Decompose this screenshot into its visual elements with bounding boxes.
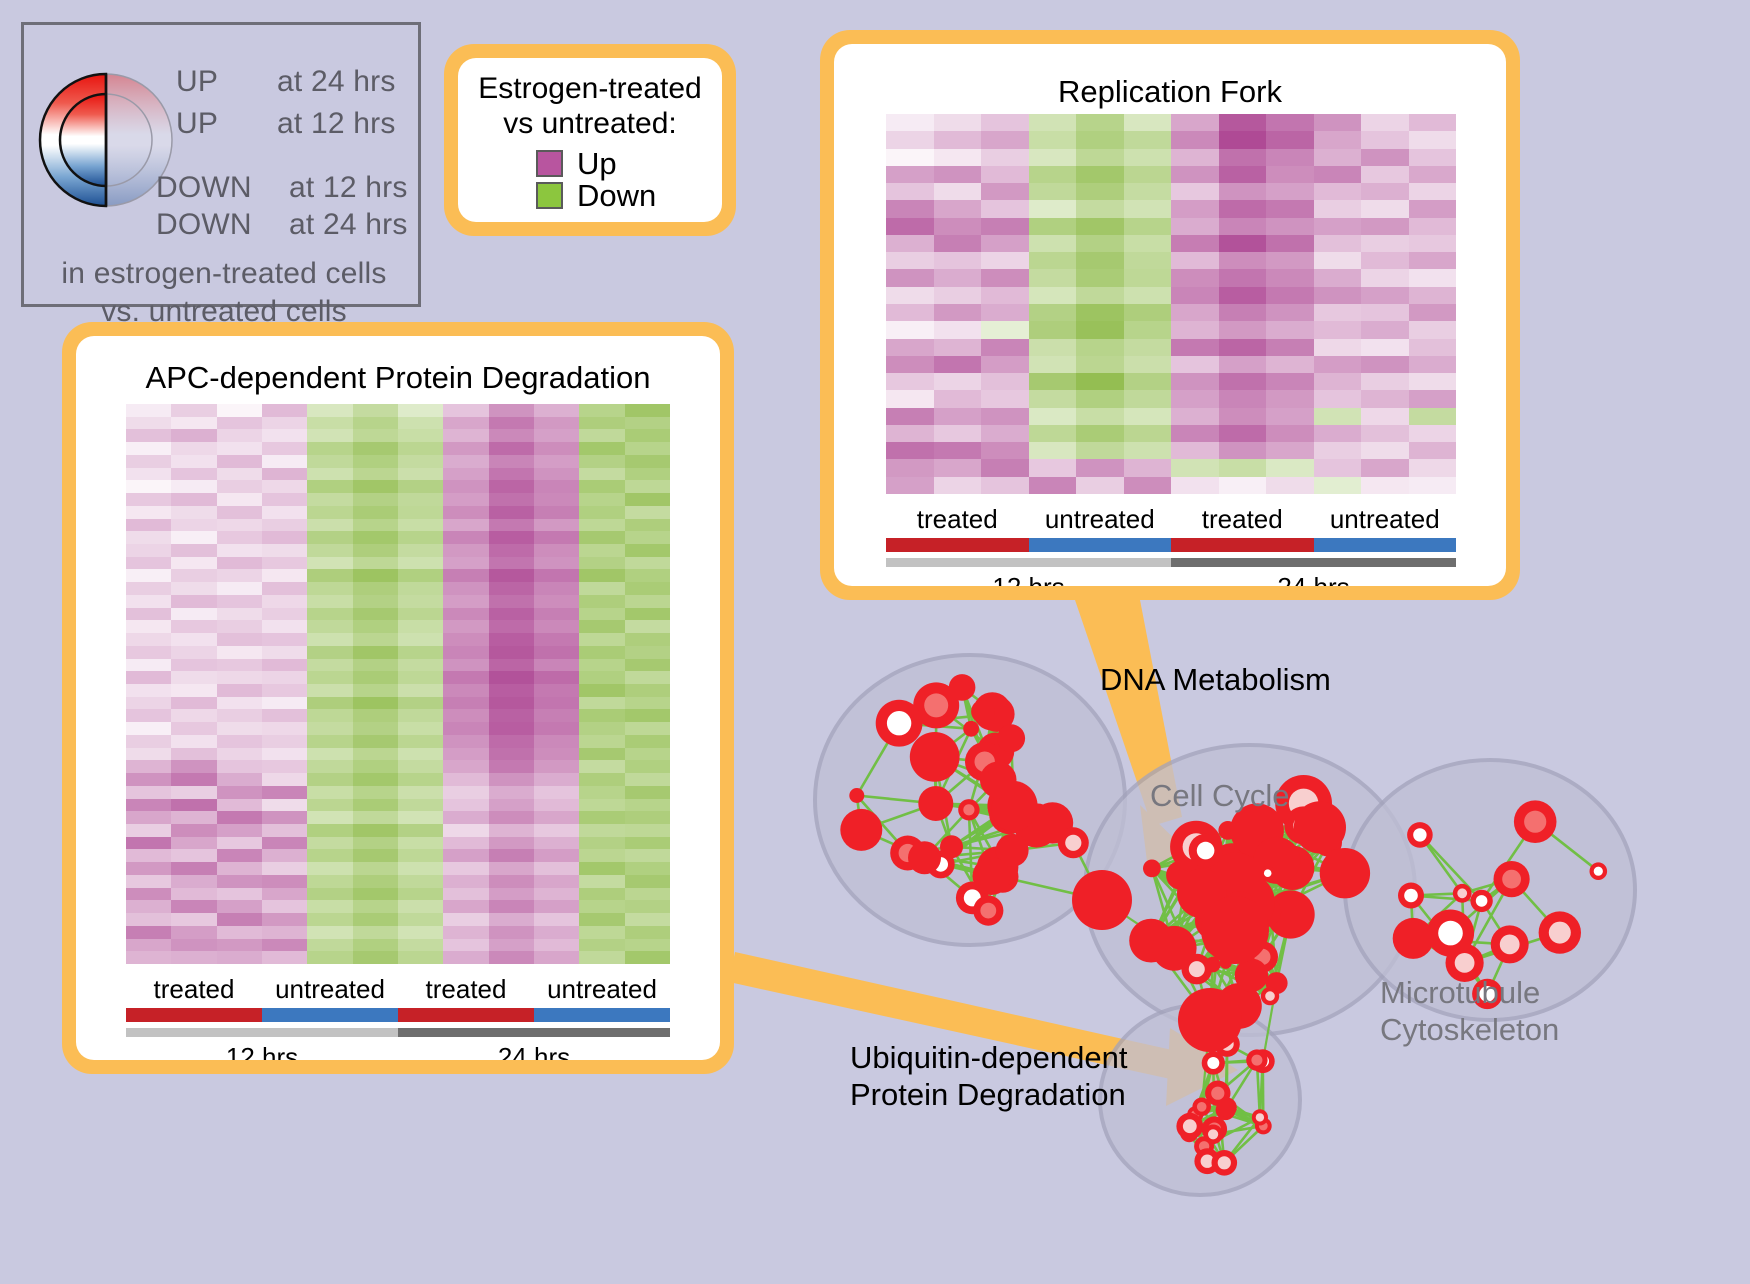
heatmap-cell xyxy=(307,468,352,481)
heatmap-cell xyxy=(579,786,624,799)
heatmap-cell xyxy=(443,684,488,697)
heatmap-cell xyxy=(262,875,307,888)
heatmap-cell xyxy=(171,659,216,672)
heatmap-cell xyxy=(1361,235,1409,252)
heatmap-cell xyxy=(934,356,982,373)
heatmap-cell xyxy=(1029,269,1077,286)
heatmap-cell xyxy=(625,608,670,621)
heatmap-cell xyxy=(489,939,534,952)
heatmap-cell xyxy=(398,544,443,557)
heatmap-cell xyxy=(934,114,982,131)
heatmap-cell xyxy=(1361,287,1409,304)
heatmap-cell xyxy=(1219,252,1267,269)
heatmap-cell xyxy=(579,493,624,506)
heatmap-cell xyxy=(534,875,579,888)
heatmap-cell xyxy=(489,837,534,850)
heatmap-cell xyxy=(1171,304,1219,321)
heatmap-cell xyxy=(398,837,443,850)
heatmap-cell xyxy=(886,287,934,304)
heatmap-cell xyxy=(171,684,216,697)
heatmap-cell xyxy=(353,480,398,493)
legend-item-up: Up xyxy=(536,148,722,179)
heatmap-cell xyxy=(398,811,443,824)
heatmap-cell xyxy=(579,773,624,786)
heatmap-cell xyxy=(534,493,579,506)
heatmap-cell xyxy=(934,442,982,459)
heatmap-cell xyxy=(307,544,352,557)
heatmap-cell xyxy=(217,608,262,621)
heatmap-cell xyxy=(353,709,398,722)
heatmap-cell xyxy=(534,709,579,722)
heatmap-cell xyxy=(534,531,579,544)
heatmap-cell xyxy=(126,811,171,824)
network-node[interactable] xyxy=(1203,1125,1223,1145)
heatmap-cell xyxy=(126,684,171,697)
heatmap-cell xyxy=(886,459,934,476)
heatmap-cell xyxy=(1029,114,1077,131)
heatmap-cell xyxy=(217,951,262,964)
network-node[interactable] xyxy=(1407,822,1433,848)
heatmap-cell xyxy=(398,480,443,493)
network-node[interactable] xyxy=(997,724,1025,752)
heatmap-cell xyxy=(126,799,171,812)
network-node[interactable] xyxy=(1212,1150,1238,1176)
heatmap-cell xyxy=(1076,321,1124,338)
heatmap-cell xyxy=(1124,459,1172,476)
heatmap-cell xyxy=(1124,442,1172,459)
heatmap-cell xyxy=(489,900,534,913)
heatmap-cell xyxy=(126,900,171,913)
apc-timebar-24 xyxy=(398,1028,670,1037)
heatmap-cell xyxy=(262,697,307,710)
network-node[interactable] xyxy=(840,809,882,851)
heatmap-cell xyxy=(353,913,398,926)
network-node[interactable] xyxy=(910,732,960,782)
heatmap-cell xyxy=(398,862,443,875)
apc-col-label-1: untreated xyxy=(262,974,398,1005)
network-node[interactable] xyxy=(1294,801,1346,853)
heatmap-cell xyxy=(1076,269,1124,286)
heatmap-cell xyxy=(443,735,488,748)
heatmap-cell xyxy=(579,875,624,888)
heatmap-cell xyxy=(625,646,670,659)
heatmap-cell xyxy=(1409,356,1457,373)
apc-time-bars xyxy=(126,1028,670,1037)
network-node[interactable] xyxy=(1260,866,1275,881)
heatmap-cell xyxy=(579,620,624,633)
heatmap-cell xyxy=(1124,200,1172,217)
heatmap-cell xyxy=(398,849,443,862)
heatmap-cell xyxy=(171,786,216,799)
heatmap-cell xyxy=(489,646,534,659)
heatmap-cell xyxy=(625,849,670,862)
heatmap-cell xyxy=(1124,339,1172,356)
heatmap-cell xyxy=(307,722,352,735)
heatmap-cell xyxy=(1361,390,1409,407)
heatmap-cell xyxy=(1124,304,1172,321)
apc-time-labels: 12 hrs 24 hrs xyxy=(126,1042,670,1060)
heatmap-cell xyxy=(262,849,307,862)
heatmap-cell xyxy=(1409,408,1457,425)
heatmap-cell xyxy=(1171,477,1219,494)
fork-time-label-12: 12 hrs xyxy=(886,572,1171,586)
fork-time-labels: 12 hrs 24 hrs xyxy=(886,572,1456,586)
heatmap-cell xyxy=(353,468,398,481)
apc-degradation-panel: APC-dependent Protein Degradation treate… xyxy=(62,322,734,1074)
heatmap-cell xyxy=(625,837,670,850)
heatmap-cell xyxy=(443,951,488,964)
heatmap-cell xyxy=(1124,390,1172,407)
heatmap-cell xyxy=(489,888,534,901)
heatmap-cell xyxy=(262,837,307,850)
heatmap-cell xyxy=(1409,166,1457,183)
network-node[interactable] xyxy=(980,762,1017,799)
heatmap-cell xyxy=(398,875,443,888)
heatmap-cell xyxy=(171,442,216,455)
heatmap-cell xyxy=(262,709,307,722)
legend-label-up: Up xyxy=(577,148,617,179)
heatmap-cell xyxy=(625,582,670,595)
network-node[interactable] xyxy=(918,786,953,821)
heatmap-cell xyxy=(353,582,398,595)
heatmap-cell xyxy=(886,339,934,356)
heatmap-cell xyxy=(1219,166,1267,183)
replication-fork-panel: Replication Fork treated untreated treat… xyxy=(820,30,1520,600)
heatmap-cell xyxy=(307,557,352,570)
fork-column-labels: treated untreated treated untreated xyxy=(886,504,1456,535)
heatmap-cell xyxy=(398,608,443,621)
heatmap-cell xyxy=(534,468,579,481)
heatmap-cell xyxy=(262,468,307,481)
heatmap-cell xyxy=(353,748,398,761)
cluster-label-cell-cycle: Cell Cycle xyxy=(1150,778,1290,814)
heatmap-cell xyxy=(353,608,398,621)
pathway-network-diagram: DNA Metabolism Cell Cycle Microtubule Cy… xyxy=(780,600,1750,1279)
network-node[interactable] xyxy=(849,788,864,803)
network-node[interactable] xyxy=(1192,1098,1211,1117)
heatmap-cell xyxy=(1219,269,1267,286)
heatmap-cell xyxy=(1171,183,1219,200)
heatmap-cell xyxy=(307,786,352,799)
heatmap-cell xyxy=(217,697,262,710)
heatmap-cell xyxy=(489,429,534,442)
heatmap-cell xyxy=(534,569,579,582)
heatmap-cell xyxy=(981,408,1029,425)
heatmap-cell xyxy=(171,480,216,493)
heatmap-cell xyxy=(353,684,398,697)
heatmap-cell xyxy=(398,506,443,519)
heatmap-cell xyxy=(625,709,670,722)
network-node[interactable] xyxy=(1058,827,1089,858)
heatmap-cell xyxy=(262,913,307,926)
heatmap-cell xyxy=(307,646,352,659)
network-node[interactable] xyxy=(971,700,995,724)
heatmap-cell xyxy=(1219,477,1267,494)
heatmap-cell xyxy=(934,321,982,338)
heatmap-cell xyxy=(625,811,670,824)
heatmap-cell xyxy=(171,544,216,557)
fork-time-label-24: 24 hrs xyxy=(1171,572,1456,586)
heatmap-cell xyxy=(126,608,171,621)
apc-bar-untreated-24 xyxy=(534,1008,670,1022)
heatmap-cell xyxy=(1409,459,1457,476)
heatmap-cell xyxy=(981,477,1029,494)
heatmap-cell xyxy=(217,455,262,468)
heatmap-cell xyxy=(398,582,443,595)
heatmap-cell xyxy=(353,659,398,672)
heatmap-cell xyxy=(1266,339,1314,356)
heatmap-cell xyxy=(1361,218,1409,235)
heatmap-cell xyxy=(217,442,262,455)
network-node[interactable] xyxy=(973,896,1003,926)
heatmap-cell xyxy=(307,519,352,532)
heatmap-cell xyxy=(625,913,670,926)
heatmap-cell xyxy=(307,709,352,722)
heatmap-cell xyxy=(307,735,352,748)
heatmap-cell xyxy=(1409,442,1457,459)
heatmap-cell xyxy=(443,429,488,442)
key-time-12-bottom: at 12 hrs xyxy=(289,171,408,205)
heatmap-cell xyxy=(353,786,398,799)
heatmap-cell xyxy=(981,218,1029,235)
heatmap-cell xyxy=(1361,459,1409,476)
heatmap-cell xyxy=(886,442,934,459)
heatmap-cell xyxy=(1219,149,1267,166)
heatmap-cell xyxy=(217,404,262,417)
network-node[interactable] xyxy=(1514,800,1557,843)
heatmap-cell xyxy=(534,506,579,519)
heatmap-cell xyxy=(443,506,488,519)
updown-legend-panel: Estrogen-treated vs untreated: Up Down xyxy=(444,44,736,236)
heatmap-cell xyxy=(443,544,488,557)
heatmap-cell xyxy=(171,646,216,659)
heatmap-cell xyxy=(443,608,488,621)
heatmap-cell xyxy=(1124,425,1172,442)
heatmap-cell xyxy=(1124,287,1172,304)
network-node[interactable] xyxy=(1246,1049,1267,1070)
heatmap-cell xyxy=(1076,339,1124,356)
network-node[interactable] xyxy=(876,700,923,747)
heatmap-cell xyxy=(579,799,624,812)
heatmap-cell xyxy=(1076,183,1124,200)
heatmap-cell xyxy=(353,442,398,455)
heatmap-cell xyxy=(398,455,443,468)
heatmap-cell xyxy=(443,824,488,837)
network-node[interactable] xyxy=(1393,918,1434,959)
heatmap-cell xyxy=(217,849,262,862)
heatmap-cell xyxy=(443,837,488,850)
heatmap-cell xyxy=(353,544,398,557)
heatmap-cell xyxy=(398,900,443,913)
network-node[interactable] xyxy=(1398,883,1424,909)
heatmap-cell xyxy=(307,608,352,621)
heatmap-cell xyxy=(1124,149,1172,166)
heatmap-cell xyxy=(398,404,443,417)
heatmap-cell xyxy=(398,620,443,633)
heatmap-cell xyxy=(171,531,216,544)
heatmap-cell xyxy=(489,824,534,837)
heatmap-cell xyxy=(398,773,443,786)
heatmap-cell xyxy=(1029,218,1077,235)
heatmap-cell xyxy=(353,939,398,952)
network-node[interactable] xyxy=(1453,884,1472,903)
heatmap-cell xyxy=(217,913,262,926)
network-node[interactable] xyxy=(1261,987,1279,1005)
heatmap-cell xyxy=(262,735,307,748)
heatmap-cell xyxy=(126,659,171,672)
heatmap-cell xyxy=(353,557,398,570)
network-node[interactable] xyxy=(958,799,979,820)
heatmap-cell xyxy=(398,519,443,532)
network-node[interactable] xyxy=(1152,926,1197,971)
heatmap-cell xyxy=(1409,149,1457,166)
apc-bar-treated-24 xyxy=(398,1008,534,1022)
heatmap-cell xyxy=(886,408,934,425)
heatmap-cell xyxy=(934,390,982,407)
heatmap-cell xyxy=(307,595,352,608)
heatmap-cell xyxy=(534,900,579,913)
fork-timebar-12 xyxy=(886,558,1171,567)
heatmap-cell xyxy=(534,697,579,710)
network-node[interactable] xyxy=(1590,862,1608,880)
heatmap-cell xyxy=(1124,235,1172,252)
heatmap-cell xyxy=(1409,304,1457,321)
network-node[interactable] xyxy=(940,835,963,858)
heatmap-cell xyxy=(443,659,488,672)
heatmap-cell xyxy=(1029,166,1077,183)
heatmap-cell xyxy=(1219,131,1267,148)
heatmap-cell xyxy=(353,900,398,913)
updown-legend-items: Up Down xyxy=(458,148,722,211)
heatmap-cell xyxy=(1171,425,1219,442)
heatmap-cell xyxy=(934,425,982,442)
heatmap-cell xyxy=(126,926,171,939)
heatmap-cell xyxy=(981,183,1029,200)
heatmap-cell xyxy=(625,824,670,837)
heatmap-cell xyxy=(1171,356,1219,373)
ub-label-line1: Ubiquitin-dependent xyxy=(850,1040,1128,1077)
heatmap-cell xyxy=(489,684,534,697)
heatmap-cell xyxy=(579,595,624,608)
heatmap-cell xyxy=(1171,442,1219,459)
heatmap-cell xyxy=(171,506,216,519)
heatmap-cell xyxy=(1314,425,1362,442)
heatmap-cell xyxy=(171,455,216,468)
heatmap-cell xyxy=(307,849,352,862)
heatmap-cell xyxy=(579,480,624,493)
heatmap-cell xyxy=(625,748,670,761)
heatmap-cell xyxy=(171,722,216,735)
heatmap-cell xyxy=(217,875,262,888)
heatmap-cell xyxy=(171,569,216,582)
heatmap-cell xyxy=(126,849,171,862)
network-node[interactable] xyxy=(1217,1098,1237,1118)
network-node[interactable] xyxy=(1252,1109,1268,1125)
replication-fork-heatmap xyxy=(886,114,1456,494)
updown-title-line1: Estrogen-treated xyxy=(458,72,722,107)
heatmap-cell xyxy=(534,748,579,761)
key-state-down-24: DOWN xyxy=(156,208,252,242)
heatmap-cell xyxy=(1029,304,1077,321)
network-node[interactable] xyxy=(1072,870,1132,930)
heatmap-cell xyxy=(534,684,579,697)
heatmap-cell xyxy=(625,926,670,939)
heatmap-cell xyxy=(625,671,670,684)
heatmap-cell xyxy=(1314,304,1362,321)
heatmap-cell xyxy=(886,390,934,407)
heatmap-cell xyxy=(217,900,262,913)
network-node[interactable] xyxy=(1491,925,1529,963)
heatmap-cell xyxy=(443,799,488,812)
network-node[interactable] xyxy=(1176,1113,1203,1140)
heatmap-cell xyxy=(353,773,398,786)
heatmap-cell xyxy=(353,493,398,506)
heatmap-cell xyxy=(489,569,534,582)
heatmap-cell xyxy=(307,429,352,442)
heatmap-cell xyxy=(489,455,534,468)
network-node[interactable] xyxy=(973,857,1011,895)
heatmap-cell xyxy=(126,913,171,926)
heatmap-cell xyxy=(1409,373,1457,390)
network-node[interactable] xyxy=(1470,890,1492,912)
heatmap-cell xyxy=(126,748,171,761)
network-node[interactable] xyxy=(949,674,976,701)
heatmap-cell xyxy=(1076,252,1124,269)
network-node[interactable] xyxy=(1202,1051,1225,1074)
fork-col-label-3: untreated xyxy=(1314,504,1457,535)
network-node[interactable] xyxy=(1494,861,1530,897)
heatmap-cell xyxy=(353,455,398,468)
heatmap-cell xyxy=(398,429,443,442)
heatmap-cell xyxy=(398,531,443,544)
heatmap-cell xyxy=(579,582,624,595)
network-node[interactable] xyxy=(1201,896,1269,964)
network-node[interactable] xyxy=(908,841,941,874)
heatmap-cell xyxy=(398,926,443,939)
network-node[interactable] xyxy=(1320,848,1370,898)
heatmap-cell xyxy=(1361,114,1409,131)
heatmap-cell xyxy=(1029,321,1077,338)
heatmap-cell xyxy=(534,544,579,557)
heatmap-cell xyxy=(217,837,262,850)
heatmap-cell xyxy=(1266,304,1314,321)
network-node[interactable] xyxy=(1539,911,1581,953)
heatmap-cell xyxy=(534,659,579,672)
heatmap-cell xyxy=(625,569,670,582)
heatmap-cell xyxy=(625,519,670,532)
heatmap-cell xyxy=(1314,477,1362,494)
key-state-up-24: UP xyxy=(176,65,218,99)
heatmap-cell xyxy=(443,633,488,646)
heatmap-cell xyxy=(307,620,352,633)
heatmap-cell xyxy=(398,748,443,761)
heatmap-cell xyxy=(625,735,670,748)
heatmap-cell xyxy=(1314,287,1362,304)
network-node[interactable] xyxy=(963,721,979,737)
heatmap-cell xyxy=(217,888,262,901)
network-node[interactable] xyxy=(1178,988,1242,1052)
heatmap-cell xyxy=(1029,287,1077,304)
network-node[interactable] xyxy=(1189,834,1223,868)
heatmap-cell xyxy=(443,442,488,455)
heatmap-cell xyxy=(262,633,307,646)
heatmap-cell xyxy=(171,811,216,824)
network-node[interactable] xyxy=(1143,860,1161,878)
heatmap-cell xyxy=(489,748,534,761)
heatmap-cell xyxy=(625,697,670,710)
heatmap-cell xyxy=(981,287,1029,304)
heatmap-cell xyxy=(217,557,262,570)
